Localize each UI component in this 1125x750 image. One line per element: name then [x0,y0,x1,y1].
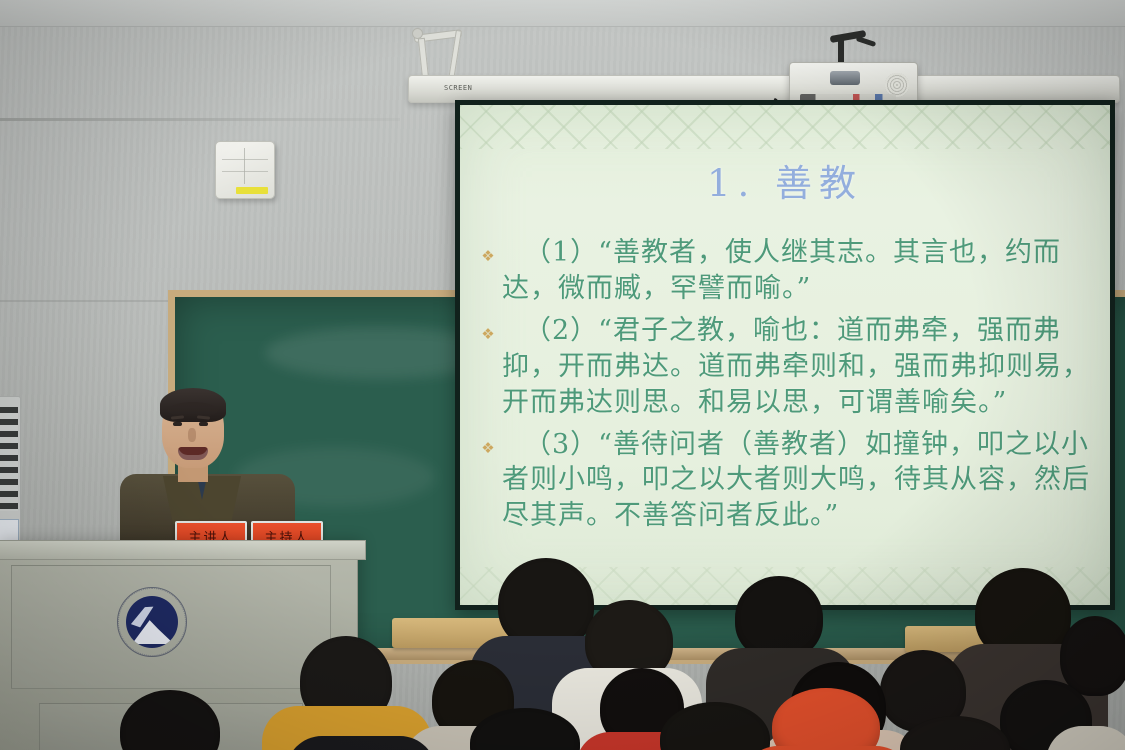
slide-bullet-text: （3）“善待问者（善教者）如撞钟，叩之以小者则小鸣，叩之以大者则大鸣，待其从容，… [502,427,1096,535]
roller-label: SCREEN [444,84,472,92]
vent-louvers [0,407,18,511]
diamond-bullet-icon: ❖ [474,327,502,342]
slide-bullet-2: ❖ （2）“君子之教，喻也：道而弗牵，强而弗抑，开而弗达。道而弗牵则和，强而弗抑… [474,313,1096,421]
panel-yellow-label [236,187,268,194]
slide-bullet-text: （1）“善教者，使人继其志。其言也，约而达，微而臧，罕譬而喻。” [502,235,1096,307]
projector-screen-roller: SCREEN [408,75,1120,103]
air-conditioner-vent [0,396,21,548]
projected-slide: 1. 善教 ❖ （1）“善教者，使人继其志。其言也，约而达，微而臧，罕譬而喻。”… [460,105,1110,605]
list-item [286,736,436,750]
wall-seam-upper [0,118,400,121]
list-item [742,746,912,750]
slide-title: 1. 善教 [460,153,1110,207]
presenter-mouth [178,447,208,460]
projection-screen-frame: 1. 善教 ❖ （1）“善教者，使人继其志。其言也，约而达，微而臧，罕譬而喻。”… [455,100,1115,610]
lecture-hall-scene: SCREEN 1. 善教 ❖ （1）“善教者，使人继其志。其言也，约而达， [0,0,1125,750]
diamond-bullet-icon: ❖ [474,441,502,456]
slide-decor-band-top [460,105,1110,149]
wall-control-panel[interactable] [215,141,275,199]
presenter-eye-right [199,422,208,426]
presenter-hair [160,388,226,422]
mount-arm-3 [856,36,877,47]
panel-grid [222,148,268,184]
ceiling-edge [0,0,1125,27]
slide-bullet-1: ❖ （1）“善教者，使人继其志。其言也，约而达，微而臧，罕譬而喻。” [474,235,1096,307]
list-item [120,690,220,750]
list-item [1060,616,1125,696]
diamond-bullet-icon: ❖ [474,249,502,264]
mount-arm-2 [838,37,844,65]
projector-lens [830,71,860,85]
slide-body: ❖ （1）“善教者，使人继其志。其言也，约而达，微而臧，罕譬而喻。” ❖ （2）… [474,235,1096,540]
projector-mount [820,33,880,65]
slide-bullet-3: ❖ （3）“善待问者（善教者）如撞钟，叩之以小者则小鸣，叩之以大者则大鸣，待其从… [474,427,1096,535]
presenter-eye-left [173,422,182,426]
audience [0,540,1125,750]
slide-bullet-text: （2）“君子之教，喻也：道而弗牵，强而弗抑，开而弗达。道而弗牵则和，强而弗抑则易… [502,313,1096,421]
wall-seam-lower [0,300,175,302]
presenter-nose [188,428,196,442]
